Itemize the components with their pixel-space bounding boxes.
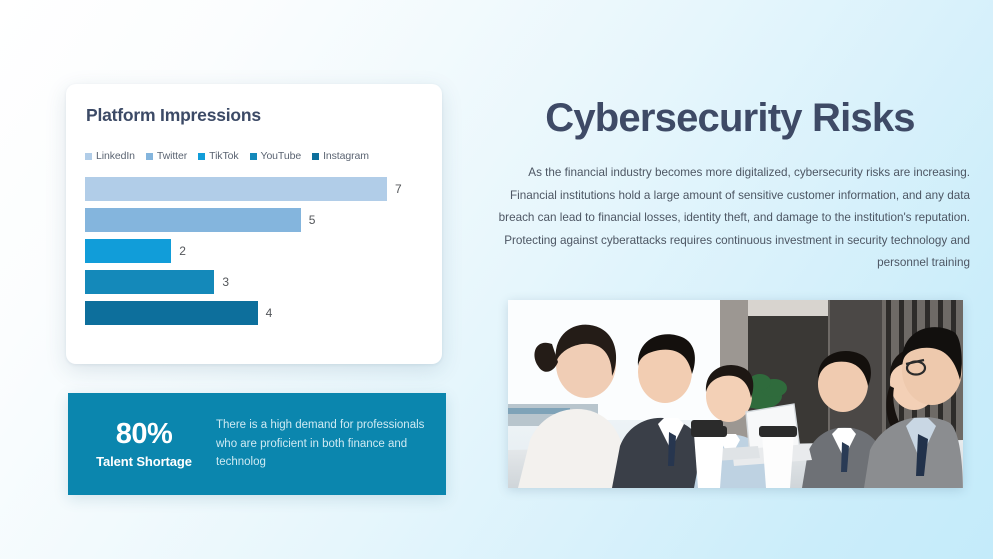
bar-row: 7 [85, 177, 430, 201]
legend-item-twitter[interactable]: Twitter [146, 150, 187, 162]
stat-description: There is a high demand for professionals… [212, 416, 428, 473]
bar-twitter[interactable] [85, 208, 301, 232]
stat-number: 80% [82, 419, 206, 451]
legend-item-linkedin[interactable]: LinkedIn [85, 150, 135, 162]
chart-title: Platform Impressions [86, 105, 261, 126]
stat-figure-group: 80% Talent Shortage [82, 419, 212, 469]
bar-value-label: 5 [309, 214, 316, 226]
right-content-column: Cybersecurity Risks As the financial ind… [490, 95, 970, 275]
stat-label: Talent Shortage [82, 454, 206, 469]
legend-label: YouTube [261, 150, 302, 162]
legend-swatch-icon [85, 153, 92, 160]
slide-root: Platform Impressions LinkedInTwitterTikT… [0, 0, 993, 559]
bar-instagram[interactable] [85, 301, 258, 325]
chart-bars-area: 75234 [85, 177, 430, 340]
page-title: Cybersecurity Risks [490, 95, 970, 141]
legend-label: LinkedIn [96, 150, 135, 162]
platform-impressions-card: Platform Impressions LinkedInTwitterTikT… [66, 84, 442, 364]
bar-row: 4 [85, 301, 430, 325]
bar-value-label: 7 [395, 183, 402, 195]
talent-shortage-stat-card: 80% Talent Shortage There is a high dema… [68, 393, 446, 495]
bar-linkedin[interactable] [85, 177, 387, 201]
bar-row: 5 [85, 208, 430, 232]
legend-item-instagram[interactable]: Instagram [312, 150, 369, 162]
legend-swatch-icon [146, 153, 153, 160]
bar-value-label: 3 [222, 276, 229, 288]
legend-swatch-icon [198, 153, 205, 160]
bar-value-label: 2 [179, 245, 186, 257]
chart-legend: LinkedInTwitterTikTokYouTubeInstagram [85, 150, 369, 162]
bar-value-label: 4 [266, 307, 273, 319]
legend-label: Instagram [323, 150, 369, 162]
legend-label: Twitter [157, 150, 187, 162]
bar-row: 2 [85, 239, 430, 263]
body-paragraph: As the financial industry becomes more d… [490, 162, 970, 275]
business-meeting-photo [508, 300, 963, 488]
photo-illustration [508, 300, 963, 488]
legend-item-tiktok[interactable]: TikTok [198, 150, 238, 162]
legend-item-youtube[interactable]: YouTube [250, 150, 302, 162]
bar-youtube[interactable] [85, 270, 214, 294]
bar-tiktok[interactable] [85, 239, 171, 263]
legend-swatch-icon [250, 153, 257, 160]
legend-swatch-icon [312, 153, 319, 160]
legend-label: TikTok [209, 150, 238, 162]
bar-row: 3 [85, 270, 430, 294]
